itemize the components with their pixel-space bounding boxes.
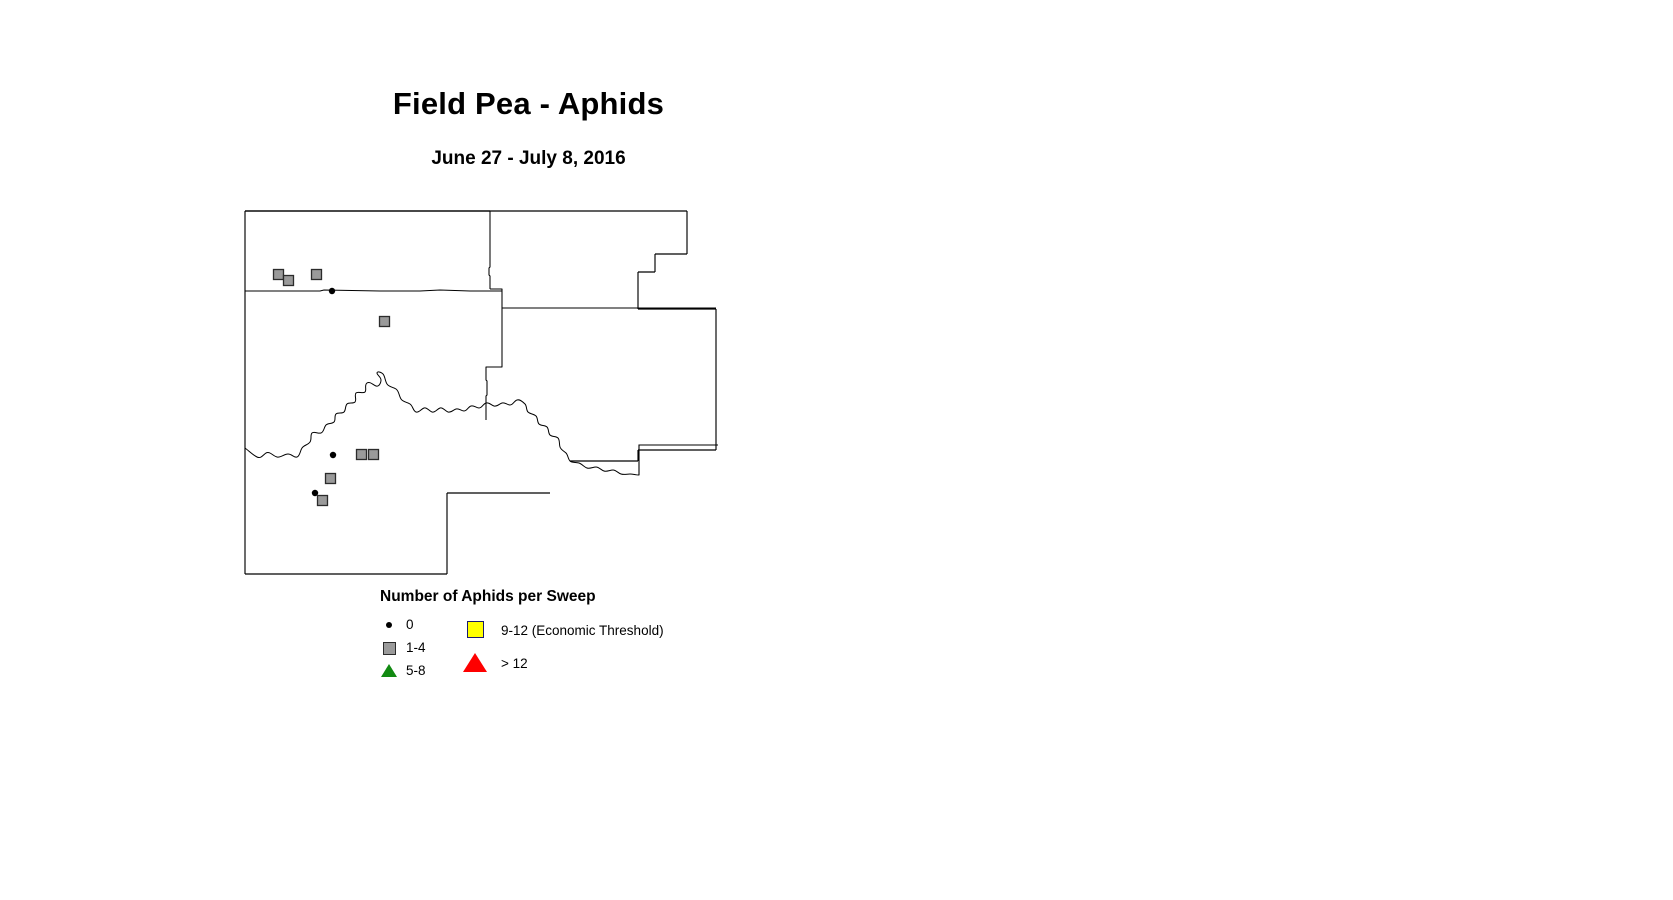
data-point-square — [284, 276, 294, 286]
page-subtitle: June 27 - July 8, 2016 — [0, 148, 1057, 170]
internal-boundaries — [245, 211, 716, 420]
legend-item-label: 5-8 — [406, 663, 426, 678]
river-boundary — [245, 372, 639, 475]
legend-item-label: 0 — [406, 617, 414, 632]
map-legend: Number of Aphids per Sweep 0 1-4 5-8 — [380, 588, 800, 708]
yellow-square-icon — [465, 618, 487, 640]
data-point-square — [312, 270, 322, 280]
data-point-square — [369, 450, 379, 460]
page-root: Field Pea - Aphids June 27 - July 8, 201… — [0, 0, 1673, 900]
page-title: Field Pea - Aphids — [0, 86, 1057, 122]
data-points-layer — [274, 270, 390, 506]
legend-item-label: > 12 — [501, 656, 528, 671]
legend-item-label: 9-12 (Economic Threshold) — [501, 623, 664, 638]
data-point-square — [274, 270, 284, 280]
green-triangle-icon — [380, 660, 402, 682]
map-svg — [240, 205, 740, 590]
data-point-dot — [330, 452, 336, 458]
legend-title: Number of Aphids per Sweep — [380, 588, 810, 606]
map-figure — [240, 205, 740, 590]
gray-square-icon — [380, 637, 402, 659]
data-point-square — [318, 496, 328, 506]
region-outline — [245, 211, 716, 574]
data-point-square — [380, 317, 390, 327]
data-point-square — [357, 450, 367, 460]
data-point-square — [326, 474, 336, 484]
red-triangle-icon — [465, 651, 487, 673]
black-dot-icon — [380, 614, 402, 636]
data-point-dot — [329, 288, 335, 294]
legend-item-label: 1-4 — [406, 640, 426, 655]
